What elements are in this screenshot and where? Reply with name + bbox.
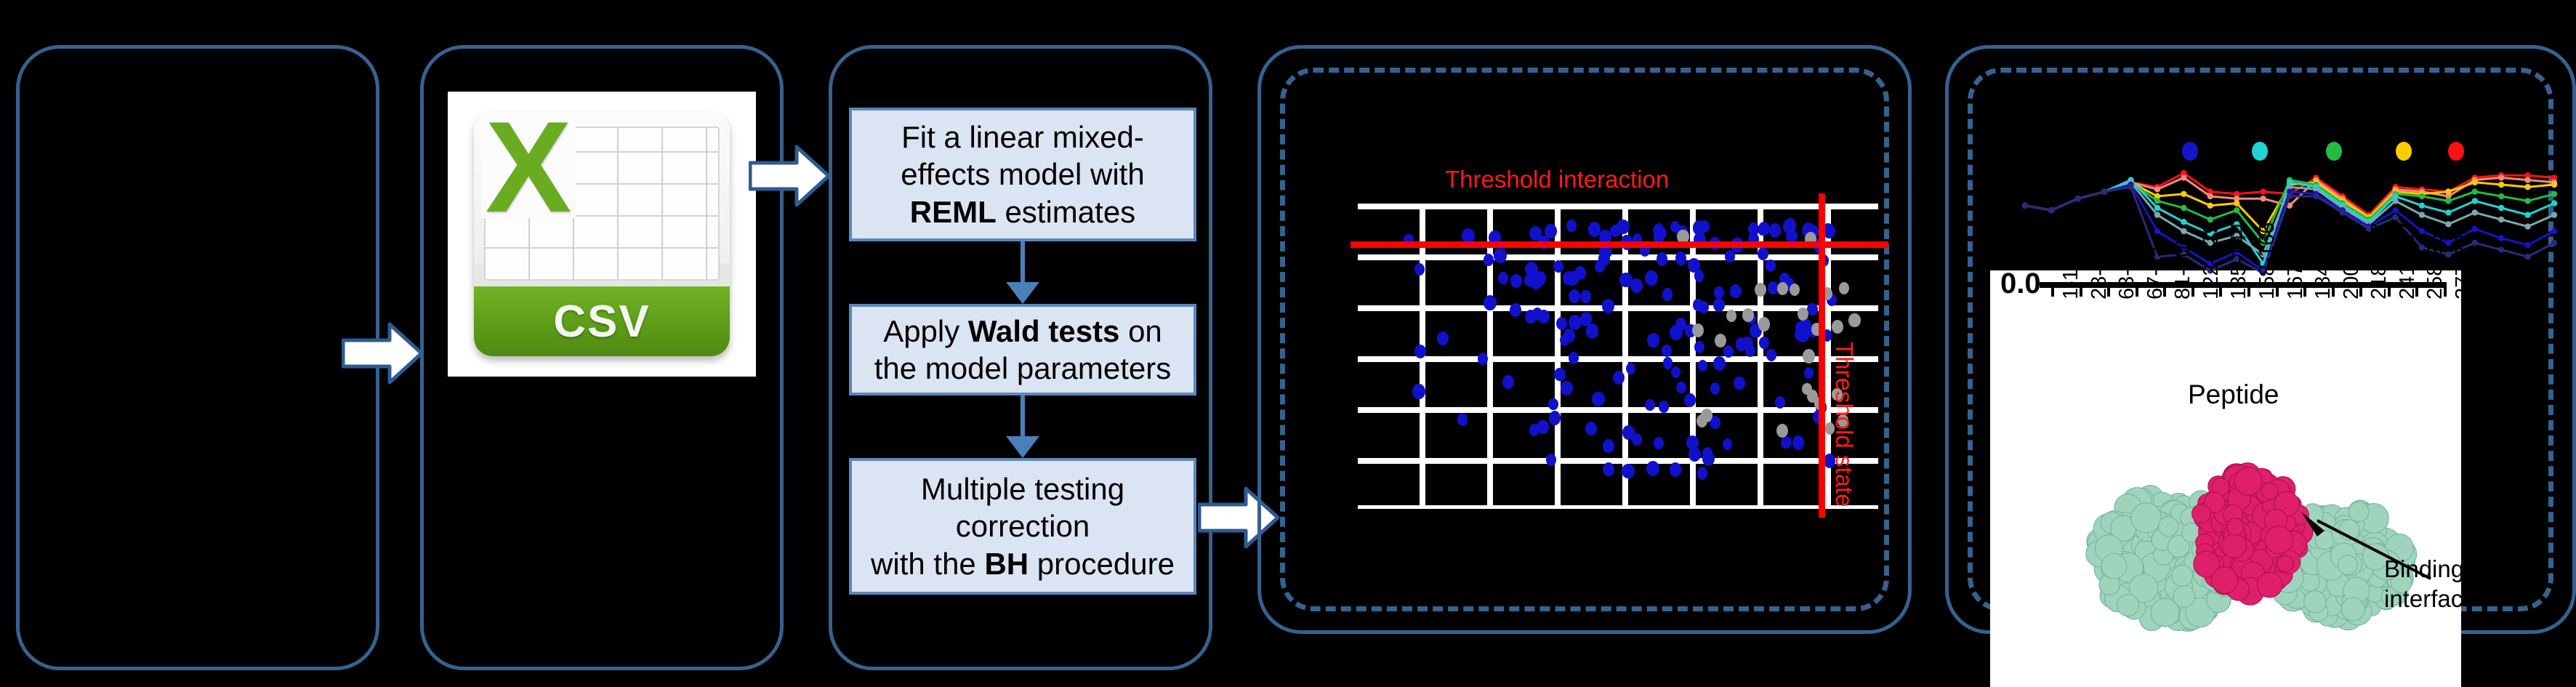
scatter-point [1723, 438, 1732, 450]
peptide-series-marker [2419, 193, 2425, 199]
legend-dot-series-green [2326, 142, 2342, 161]
peptide-x-tick-label: 158-166 [2255, 222, 2279, 300]
peptide-series-marker [2260, 196, 2266, 201]
scatter-point [1769, 223, 1781, 237]
scatter-point [1807, 303, 1817, 316]
peptide-series-marker [2472, 198, 2478, 204]
step-box-wald-tests: Apply Wald tests onthe model parameters [849, 304, 1196, 395]
scatter-point [1457, 413, 1468, 425]
legend-dot-series-cyan [2252, 142, 2268, 161]
scatter-frame-top [1358, 204, 1878, 207]
peptide-series-marker [2392, 207, 2398, 213]
scatter-point [1580, 290, 1591, 303]
binding-interface-label-line2: interface [2384, 584, 2476, 614]
peptide-series-marker [2181, 174, 2186, 180]
scatter-point [1548, 398, 1558, 410]
binding-interface-label: Binding interface [2384, 554, 2476, 614]
scatter-point [1556, 317, 1567, 330]
step-connector-1-arrowhead-icon [1006, 282, 1039, 304]
peptide-series-marker [2392, 198, 2398, 204]
peptide-axis-title: Peptide [2188, 379, 2279, 410]
peptide-series-marker [2154, 228, 2160, 234]
scatter-point [1766, 349, 1776, 361]
peptide-series-marker [2022, 203, 2028, 209]
scatter-point [1613, 371, 1625, 385]
binding-interface-label-line1: Binding [2384, 554, 2476, 584]
peptide-series-marker [2472, 209, 2478, 215]
peptide-x-tick-label: 277-284 [2452, 222, 2476, 300]
step-connector-1 [1021, 241, 1025, 284]
workflow-figure: X CSV Fit a linear mixed-effects model w… [0, 0, 2576, 687]
scatter-point [1602, 299, 1614, 313]
peptide-x-tick-label: 1-15 [2059, 257, 2083, 300]
peptide-x-tick [2051, 282, 2054, 297]
peptide-x-tick-label: 167-180 [2284, 222, 2308, 300]
peptide-series-marker [2101, 188, 2107, 194]
peptide-series-marker [2498, 235, 2504, 241]
scatter-gridlines [1358, 204, 1878, 509]
legend-dot-series-red [2448, 142, 2464, 161]
scatter-point [1697, 467, 1708, 480]
scatter-point [1759, 337, 1769, 349]
peptide-x-tick-label: 218-237 [2367, 222, 2391, 300]
scatter-point [1725, 250, 1734, 262]
scatter-point [1662, 345, 1672, 357]
scatter-point [1525, 310, 1537, 324]
peptide-series-marker [2524, 198, 2530, 204]
scatter-point [1804, 367, 1814, 379]
peptide-series-marker [2524, 223, 2530, 229]
peptide-y-axis-tick-label: 0.0 [2000, 268, 2041, 300]
peptide-series-marker [2181, 219, 2186, 225]
peptide-series-marker [2445, 198, 2451, 204]
peptide-series-marker [2181, 205, 2186, 211]
scatter-point [1484, 254, 1494, 266]
step-box-fit-model: Fit a linear mixed-effects model withREM… [849, 108, 1196, 241]
scatter-point [1574, 266, 1586, 280]
scatter-point [1734, 377, 1744, 390]
peptide-series-marker [2551, 212, 2557, 217]
peptide-series-marker [2392, 214, 2398, 220]
peptide-series-marker [2498, 174, 2504, 180]
scatter-point [1595, 260, 1605, 273]
scatter-point [1713, 298, 1725, 312]
flow-arrow-2-icon [749, 142, 830, 209]
step-1-text: Fit a linear mixed-effects model withREM… [901, 118, 1144, 230]
peptide-x-tick-label: 63-73 [2115, 246, 2139, 300]
peptide-x-tick-label: 258-266 [2423, 222, 2447, 300]
scatter-point [1781, 436, 1791, 449]
peptide-series-marker [2498, 246, 2504, 252]
scatter-point [1726, 310, 1736, 322]
scatter-point [1569, 352, 1579, 364]
scatter-point [1698, 360, 1708, 372]
peptide-series-marker [2154, 212, 2160, 217]
peptide-series-marker [2524, 242, 2530, 248]
scatter-point [1676, 382, 1686, 393]
scatter-point [1715, 334, 1726, 347]
scatter-point [1693, 220, 1706, 236]
scatter-point [1626, 363, 1635, 374]
peptide-series-marker [2154, 205, 2160, 211]
flow-arrow-1-icon [342, 320, 423, 387]
scatter-point [1710, 382, 1720, 395]
peptide-x-tick-label: 81-101 [2171, 234, 2195, 300]
scatter-point [1758, 222, 1770, 236]
scatter-point [1510, 274, 1522, 288]
peptide-series-marker [2445, 188, 2451, 194]
threshold-interaction-line [1351, 241, 1888, 248]
peptide-series-marker [2313, 193, 2319, 199]
scatter-point [1622, 464, 1634, 478]
scatter-point [1699, 301, 1709, 313]
scatter-point [1694, 270, 1704, 281]
scatter-point [1694, 341, 1704, 353]
scatter-point [1412, 384, 1425, 399]
scatter-point [1478, 353, 1488, 365]
peptide-x-tick-label: 184-199 [2311, 222, 2335, 300]
legend-dot-series-yellow [2396, 142, 2412, 161]
scatter-point [1537, 420, 1548, 434]
scatter-point [1662, 288, 1673, 301]
scatter-point [1510, 303, 1521, 317]
peptide-x-tick-label: 67-75 [2144, 246, 2168, 300]
scatter-point [1494, 248, 1507, 263]
peptide-x-tick-label: 135-144 [2227, 222, 2251, 300]
scatter-point [1775, 396, 1785, 409]
scatter-point [1713, 356, 1726, 371]
peptide-series-marker [2419, 203, 2425, 209]
threshold-state-line [1819, 193, 1825, 518]
peptide-x-tick-label: 241-257 [2396, 222, 2420, 300]
step-connector-2 [1021, 395, 1025, 438]
scatter-point [1684, 393, 1696, 407]
scatter-point [1646, 461, 1659, 476]
scatter-point [1414, 345, 1426, 358]
scatter-point [1549, 411, 1561, 425]
peptide-series-marker [2551, 182, 2557, 188]
peptide-series-marker [2419, 212, 2425, 217]
peptide-series-marker [2498, 217, 2504, 222]
peptide-series-marker [2154, 198, 2160, 204]
peptide-series-marker [2551, 228, 2557, 234]
peptide-series-marker [2551, 191, 2557, 197]
threshold-interaction-label: Threshold interaction [1445, 166, 1669, 193]
scatter-point [1659, 401, 1669, 413]
step-2-text: Apply Wald tests onthe model parameters [874, 313, 1172, 387]
scatter-point [1657, 252, 1667, 265]
peptide-series-marker [2472, 180, 2478, 185]
peptide-series-marker [2498, 182, 2504, 188]
peptide-series-marker [2524, 212, 2530, 217]
scatter-point [1654, 437, 1664, 449]
scatter-point [1603, 462, 1614, 476]
scatter-point [1792, 435, 1804, 449]
peptide-series-marker [2287, 193, 2293, 199]
peptide-x-tick-label: 28-44 [2088, 246, 2112, 300]
peptide-series-marker [2551, 200, 2557, 206]
scatter-point [1803, 349, 1815, 363]
scatter-point [1530, 276, 1541, 289]
peptide-series-marker [2128, 184, 2133, 190]
scatter-plot [1358, 204, 1878, 509]
scatter-point [1802, 383, 1811, 395]
peptide-series-marker [2524, 254, 2530, 260]
scatter-point [1663, 357, 1673, 369]
step-box-multiple-testing: Multiple testingcorrectionwith the BH pr… [849, 458, 1196, 595]
scatter-point [1647, 333, 1659, 347]
scatter-point [1848, 313, 1861, 328]
peptide-series-marker [2340, 209, 2346, 215]
peptide-x-tick-label: 200-214 [2340, 222, 2364, 300]
peptide-x-tick-label: 122-129 [2199, 222, 2223, 300]
csv-format-label: CSV [553, 296, 650, 347]
peptide-series-marker [2498, 205, 2504, 211]
peptide-series-marker [2075, 196, 2081, 201]
scatter-point [1675, 252, 1686, 265]
csv-format-band: CSV [474, 286, 730, 356]
peptide-series-marker [2524, 184, 2530, 190]
scatter-point [1645, 399, 1654, 411]
excel-x-glyph: X [481, 116, 576, 218]
peptide-series-marker [2234, 200, 2239, 206]
input-data-panel [16, 45, 379, 670]
peptide-series-marker [2260, 188, 2266, 194]
step-connector-2-arrowhead-icon [1006, 436, 1039, 458]
scatter-point [1645, 270, 1658, 286]
peptide-series-marker [2234, 207, 2239, 213]
scatter-point [1588, 222, 1601, 237]
scatter-point [1580, 312, 1593, 326]
peptide-series-marker [2207, 203, 2213, 209]
scatter-point [1723, 345, 1734, 358]
scatter-point [1742, 308, 1753, 321]
scatter-point [1603, 439, 1614, 453]
scatter-point [1554, 368, 1566, 382]
scatter-point [1553, 260, 1563, 273]
peptide-series-marker [2551, 240, 2557, 246]
threshold-state-label: Threshold state [1830, 342, 1858, 507]
csv-file-icon: X CSV [448, 92, 756, 377]
legend-dot-series-blue [2182, 142, 2198, 161]
peptide-series-marker [2048, 207, 2054, 213]
scatter-frame-bottom [1358, 505, 1878, 509]
step-3-text: Multiple testingcorrectionwith the BH pr… [871, 470, 1175, 582]
scatter-point [1670, 462, 1682, 477]
peptide-series-marker [2498, 193, 2504, 199]
scatter-point [1502, 375, 1514, 389]
scatter-point [1484, 295, 1497, 310]
peptide-series-marker [2207, 193, 2213, 199]
peptide-series-marker [2445, 209, 2451, 215]
scatter-point [1592, 392, 1605, 407]
scatter-point [1437, 332, 1449, 345]
peptide-series-marker [2154, 186, 2160, 192]
peptide-series-marker [2181, 191, 2186, 197]
peptide-series-marker [2472, 188, 2478, 194]
peptide-series-marker [2524, 177, 2530, 182]
